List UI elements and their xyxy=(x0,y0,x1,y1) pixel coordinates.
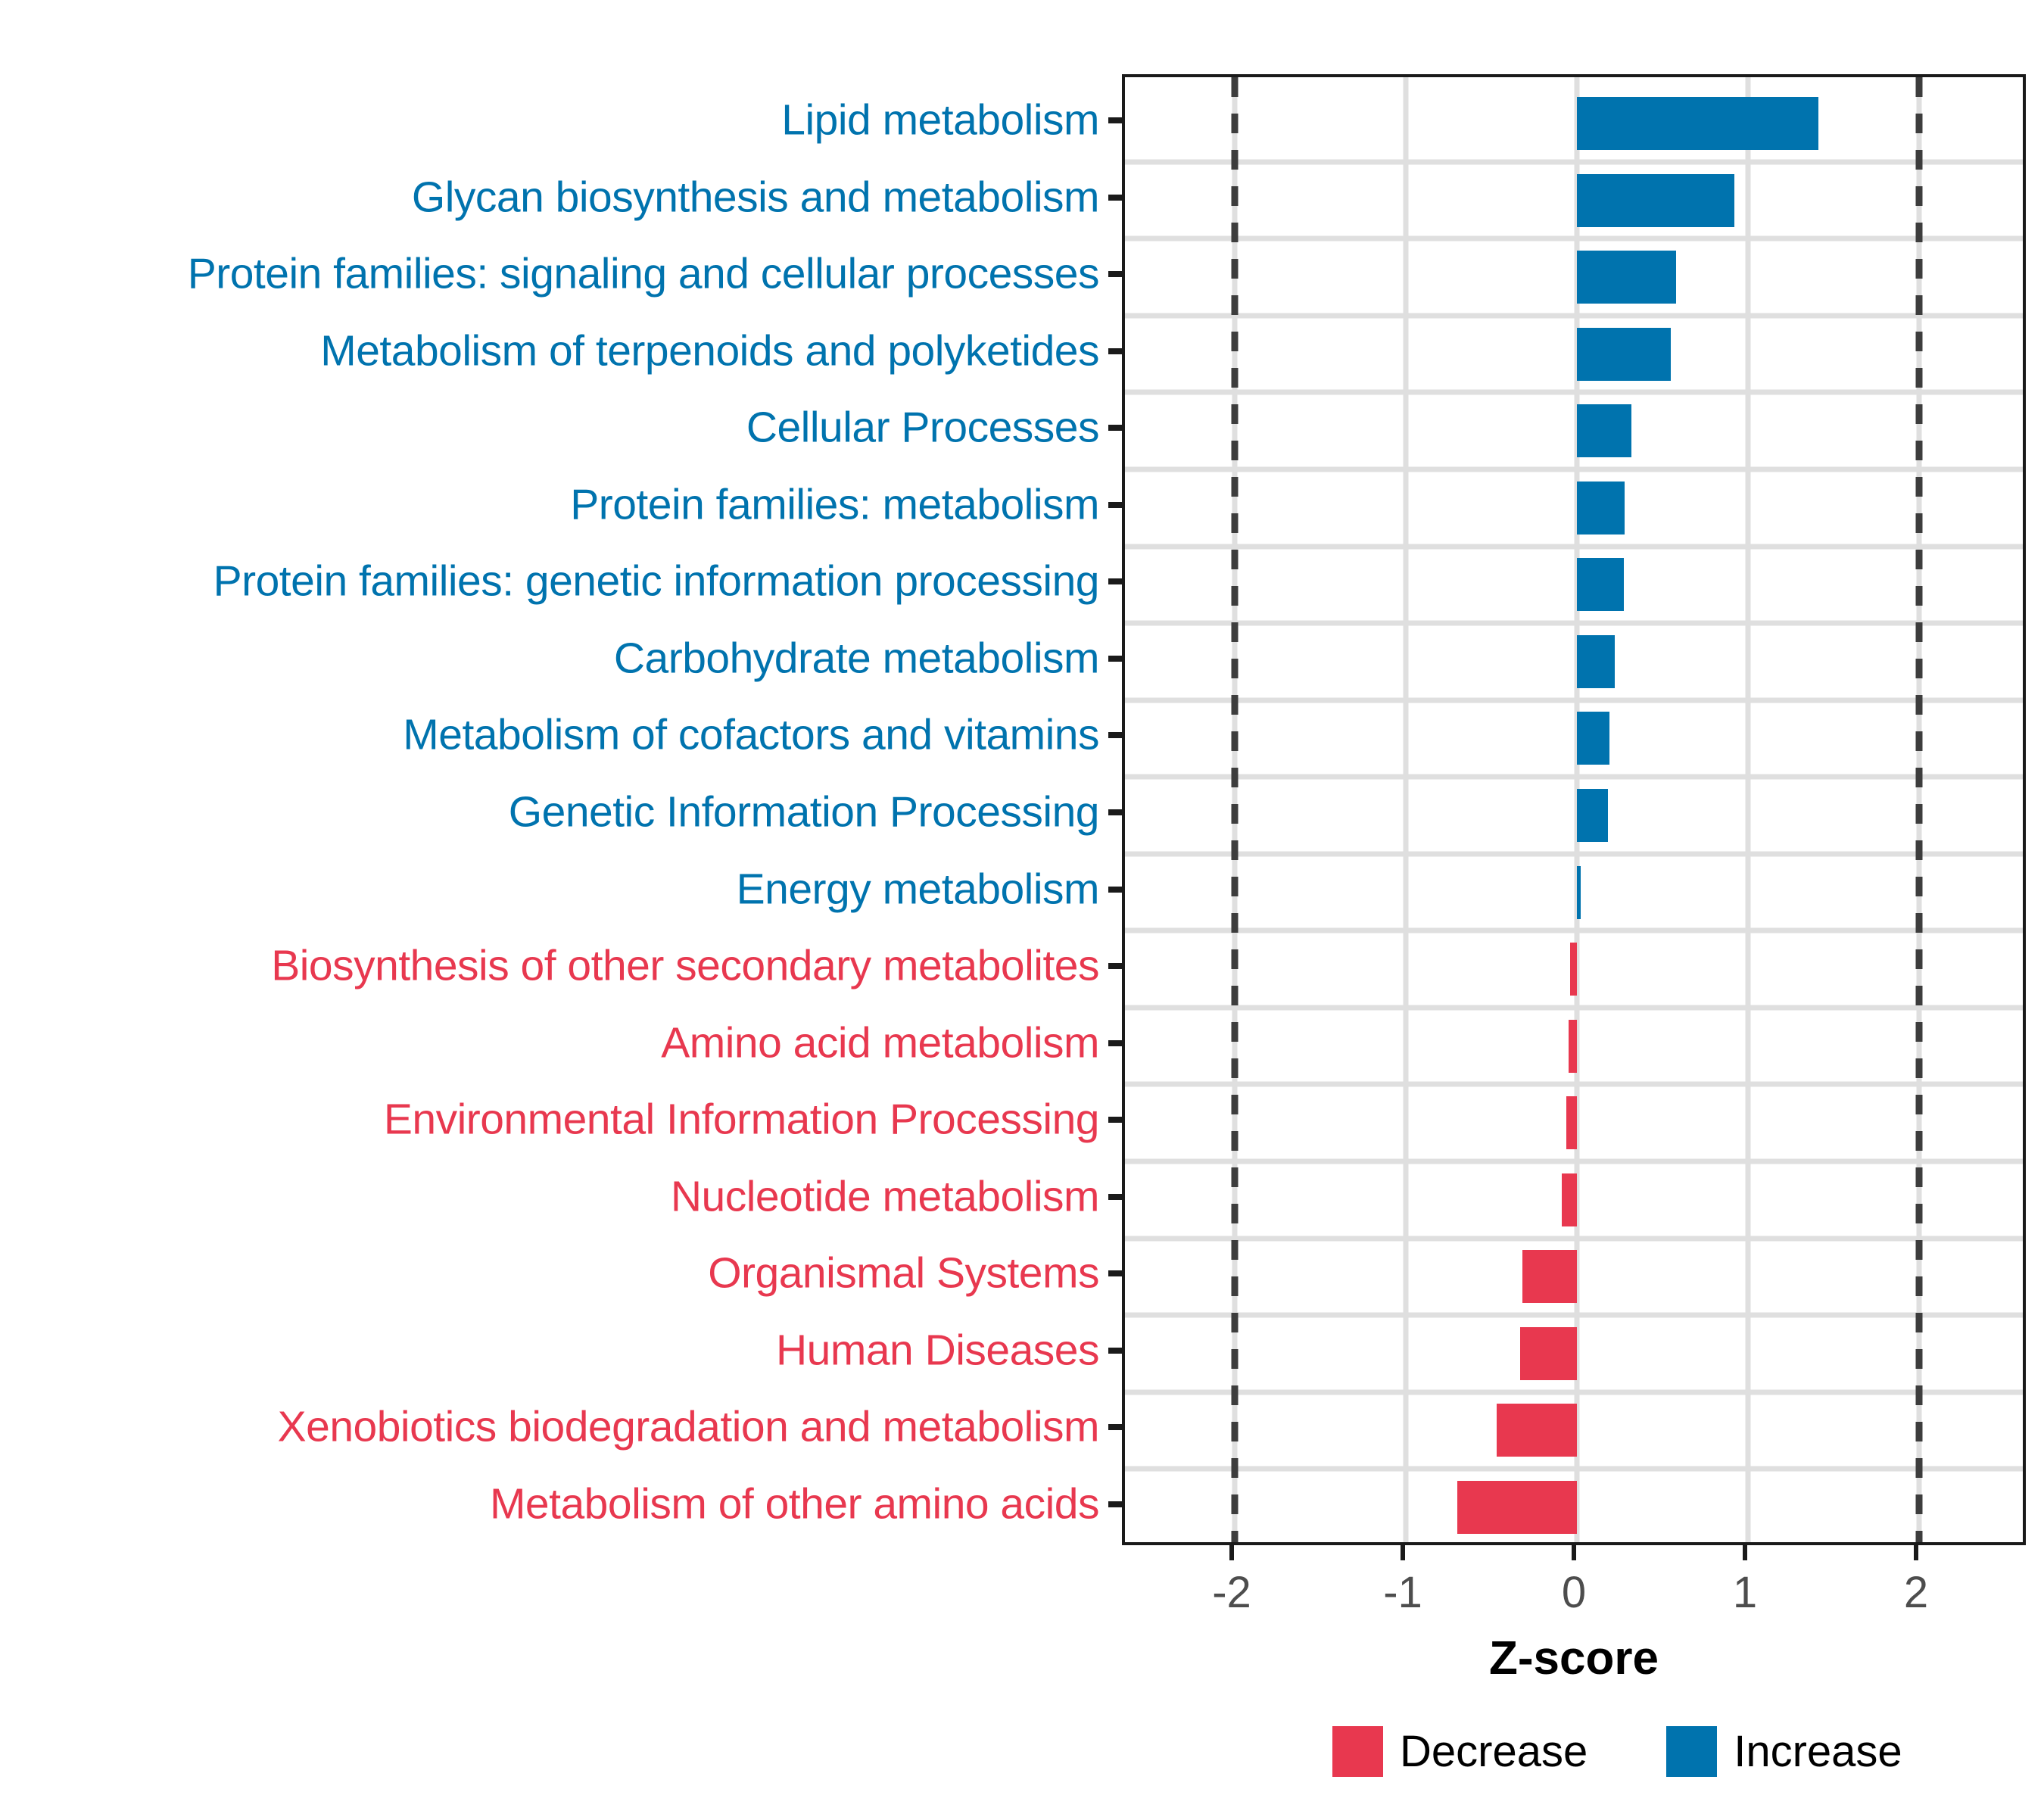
x-tick xyxy=(1914,1545,1918,1560)
x-tick-label: -1 xyxy=(1383,1567,1422,1618)
bar xyxy=(1577,789,1608,842)
y-tick xyxy=(1108,1501,1122,1507)
y-tick xyxy=(1108,1040,1122,1046)
category-label: Glycan biosynthesis and metabolism xyxy=(412,176,1099,219)
y-gridline xyxy=(1125,1159,2023,1164)
category-label: Environmental Information Processing xyxy=(384,1099,1099,1142)
bar xyxy=(1577,866,1581,919)
y-gridline xyxy=(1125,467,2023,472)
category-label: Cellular Processes xyxy=(746,407,1099,450)
y-tick xyxy=(1108,1424,1122,1430)
x-gridline xyxy=(1746,77,1751,1542)
y-tick xyxy=(1108,809,1122,815)
y-tick xyxy=(1108,887,1122,893)
x-tick xyxy=(1743,1545,1747,1560)
y-tick xyxy=(1108,1117,1122,1123)
category-label: Carbohydrate metabolism xyxy=(614,637,1099,680)
y-tick xyxy=(1108,195,1122,201)
y-tick xyxy=(1108,271,1122,277)
y-gridline xyxy=(1125,928,2023,933)
y-tick xyxy=(1108,425,1122,431)
bar xyxy=(1566,1096,1577,1149)
y-gridline xyxy=(1125,1389,2023,1395)
bar xyxy=(1577,404,1631,457)
y-tick xyxy=(1108,117,1122,123)
y-gridline xyxy=(1125,236,2023,242)
legend-swatch-decrease xyxy=(1332,1726,1383,1777)
y-gridline xyxy=(1125,1082,2023,1087)
y-tick xyxy=(1108,348,1122,354)
bar xyxy=(1497,1404,1577,1457)
legend-label-decrease: Decrease xyxy=(1400,1726,1588,1777)
bar xyxy=(1570,943,1577,996)
y-tick xyxy=(1108,1270,1122,1276)
y-tick xyxy=(1108,1194,1122,1200)
x-tick-label: 1 xyxy=(1733,1567,1757,1618)
bar xyxy=(1569,1020,1577,1073)
y-tick xyxy=(1108,1348,1122,1354)
y-gridline xyxy=(1125,1236,2023,1241)
category-label: Biosynthesis of other secondary metaboli… xyxy=(271,945,1099,988)
category-label: Metabolism of terpenoids and polyketides xyxy=(320,329,1099,372)
x-tick xyxy=(1229,1545,1234,1560)
y-gridline xyxy=(1125,159,2023,164)
y-gridline xyxy=(1125,313,2023,318)
x-tick xyxy=(1401,1545,1405,1560)
category-label: Energy metabolism xyxy=(737,868,1099,911)
y-gridline xyxy=(1125,1466,2023,1472)
bar xyxy=(1577,174,1734,227)
category-label: Organismal Systems xyxy=(708,1252,1099,1295)
bar xyxy=(1577,635,1615,688)
y-gridline xyxy=(1125,774,2023,780)
y-gridline xyxy=(1125,544,2023,549)
x-axis-title: Z-score xyxy=(1489,1632,1659,1685)
y-gridline xyxy=(1125,390,2023,395)
x-tick xyxy=(1572,1545,1576,1560)
plot-panel-inner xyxy=(1125,77,2023,1542)
y-tick xyxy=(1108,656,1122,662)
plot-panel xyxy=(1122,74,2026,1545)
bar xyxy=(1457,1481,1577,1534)
category-label: Lipid metabolism xyxy=(781,99,1099,142)
bar xyxy=(1577,712,1609,765)
legend-label-increase: Increase xyxy=(1734,1726,1902,1777)
bar xyxy=(1562,1173,1577,1226)
y-gridline xyxy=(1125,1313,2023,1318)
x-tick-label: 0 xyxy=(1562,1567,1586,1618)
legend: Decrease Increase xyxy=(1332,1726,1902,1777)
bar xyxy=(1577,482,1625,535)
y-gridline xyxy=(1125,1005,2023,1010)
category-label: Nucleotide metabolism xyxy=(671,1175,1099,1218)
bar xyxy=(1577,251,1676,304)
category-label: Protein families: signaling and cellular… xyxy=(188,253,1099,296)
y-gridline xyxy=(1125,697,2023,703)
y-tick xyxy=(1108,963,1122,969)
y-tick xyxy=(1108,578,1122,584)
bar xyxy=(1577,328,1671,381)
y-tick xyxy=(1108,732,1122,738)
category-label: Genetic Information Processing xyxy=(509,791,1099,834)
kegg-zscore-bar-chart: Lipid metabolismGlycan biosynthesis and … xyxy=(0,0,2044,1817)
legend-item-decrease[interactable]: Decrease xyxy=(1332,1726,1588,1777)
bar xyxy=(1577,97,1818,150)
legend-swatch-increase xyxy=(1666,1726,1717,1777)
category-label: Metabolism of other amino acids xyxy=(490,1483,1099,1526)
x-tick-label: -2 xyxy=(1212,1567,1251,1618)
y-gridline xyxy=(1125,851,2023,856)
bar xyxy=(1577,558,1624,611)
category-label: Protein families: genetic information pr… xyxy=(213,560,1099,603)
threshold-line xyxy=(1232,77,1239,1542)
category-label-column: Lipid metabolismGlycan biosynthesis and … xyxy=(0,74,1122,1545)
bar xyxy=(1522,1250,1577,1303)
category-label: Metabolism of cofactors and vitamins xyxy=(403,714,1099,757)
legend-item-increase[interactable]: Increase xyxy=(1666,1726,1902,1777)
x-tick-label: 2 xyxy=(1904,1567,1928,1618)
threshold-line xyxy=(1916,77,1923,1542)
category-label: Xenobiotics biodegradation and metabolis… xyxy=(278,1406,1099,1449)
category-label: Human Diseases xyxy=(776,1329,1099,1372)
category-label: Protein families: metabolism xyxy=(570,483,1099,526)
y-gridline xyxy=(1125,621,2023,626)
x-gridline xyxy=(1404,77,1409,1542)
bar xyxy=(1520,1327,1577,1380)
category-label: Amino acid metabolism xyxy=(661,1021,1099,1064)
y-tick xyxy=(1108,502,1122,508)
